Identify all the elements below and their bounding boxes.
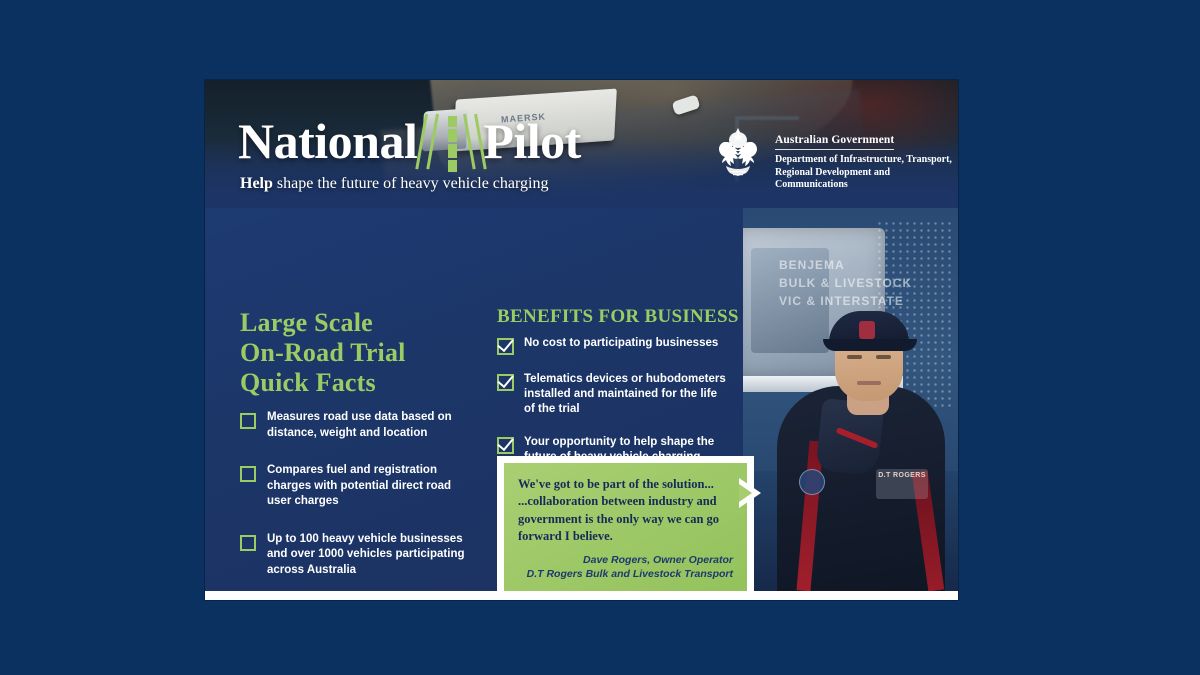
logo-word-national: National (238, 116, 417, 166)
tagline-rest: shape the future of heavy vehicle chargi… (273, 175, 549, 192)
road-perspective-icon (419, 112, 481, 170)
list-item-label: No cost to participating businesses (524, 336, 718, 355)
list-item: Measures road use data based on distance… (240, 410, 465, 441)
quick-facts-title-line3: Quick Facts (240, 368, 406, 398)
checkbox-empty-icon (240, 535, 256, 551)
person-eye-right (876, 355, 891, 359)
government-text: Australian Government Department of Infr… (775, 126, 958, 192)
list-item: No cost to participating businesses (497, 336, 727, 355)
footer: Get involved! Express your interest to p… (205, 591, 958, 600)
quote-attribution: Dave Rogers, Owner Operator D.T Rogers B… (518, 553, 733, 581)
person-shirt-badge (799, 469, 825, 495)
quote-company: D.T Rogers Bulk and Livestock Transport (518, 567, 733, 581)
person-shirt-logo: D.T ROGERS (876, 469, 928, 499)
checkbox-checked-icon (497, 437, 514, 454)
quick-facts-title: Large Scale On-Road Trial Quick Facts (240, 308, 406, 398)
person-cap-badge (859, 321, 875, 339)
logo-word-pilot: Pilot (483, 116, 580, 166)
person-cap-brim (823, 339, 917, 351)
national-pilot-logo: National Pilot (238, 112, 581, 170)
department-label: Department of Infrastructure, Transport,… (775, 154, 958, 192)
list-item: Telematics devices or hubodometers insta… (497, 372, 727, 418)
list-item-label: Compares fuel and registration charges w… (267, 463, 465, 510)
tagline: Help shape the future of heavy vehicle c… (240, 175, 548, 193)
checkbox-checked-icon (497, 338, 514, 355)
poster-stage: MAERSK National Pilot Help shape the fut… (0, 0, 1200, 675)
testimonial-quote: We've got to be part of the solution... … (497, 456, 754, 591)
person-eye-left (847, 355, 862, 359)
checkbox-empty-icon (240, 413, 256, 429)
list-item-label: Telematics devices or hubodometers insta… (524, 372, 727, 418)
quick-facts-list: Measures road use data based on distance… (240, 410, 465, 591)
government-branding: Australian Government Department of Infr… (710, 126, 958, 192)
quote-pointer-fill (739, 484, 752, 502)
quote-body: We've got to be part of the solution... … (504, 463, 747, 591)
quote-text: We've got to be part of the solution... … (518, 476, 733, 545)
driver-photo: BENJEMABULK & LIVESTOCKVIC & INTERSTATE … (743, 208, 958, 591)
quick-facts-title-line2: On-Road Trial (240, 338, 406, 368)
checkbox-empty-icon (240, 466, 256, 482)
quote-author: Dave Rogers, Owner Operator (518, 553, 733, 567)
list-item: Compares fuel and registration charges w… (240, 463, 465, 510)
tagline-bold: Help (240, 175, 273, 192)
australian-government-label: Australian Government (775, 134, 894, 150)
poster-card: MAERSK National Pilot Help shape the fut… (205, 80, 958, 600)
quick-facts-title-line1: Large Scale (240, 308, 406, 338)
list-item: Up to 100 heavy vehicle businesses and o… (240, 532, 465, 579)
poster-body: BENJEMABULK & LIVESTOCKVIC & INTERSTATE … (205, 208, 958, 591)
list-item-label: Measures road use data based on distance… (267, 410, 465, 441)
person-mouth (857, 381, 881, 385)
header-banner: MAERSK National Pilot Help shape the fut… (205, 80, 958, 208)
australian-coat-of-arms-icon (710, 126, 766, 178)
benefits-title: BENEFITS FOR BUSINESS (497, 306, 739, 328)
list-item-label: Up to 100 heavy vehicle businesses and o… (267, 532, 465, 579)
checkbox-checked-icon (497, 374, 514, 391)
